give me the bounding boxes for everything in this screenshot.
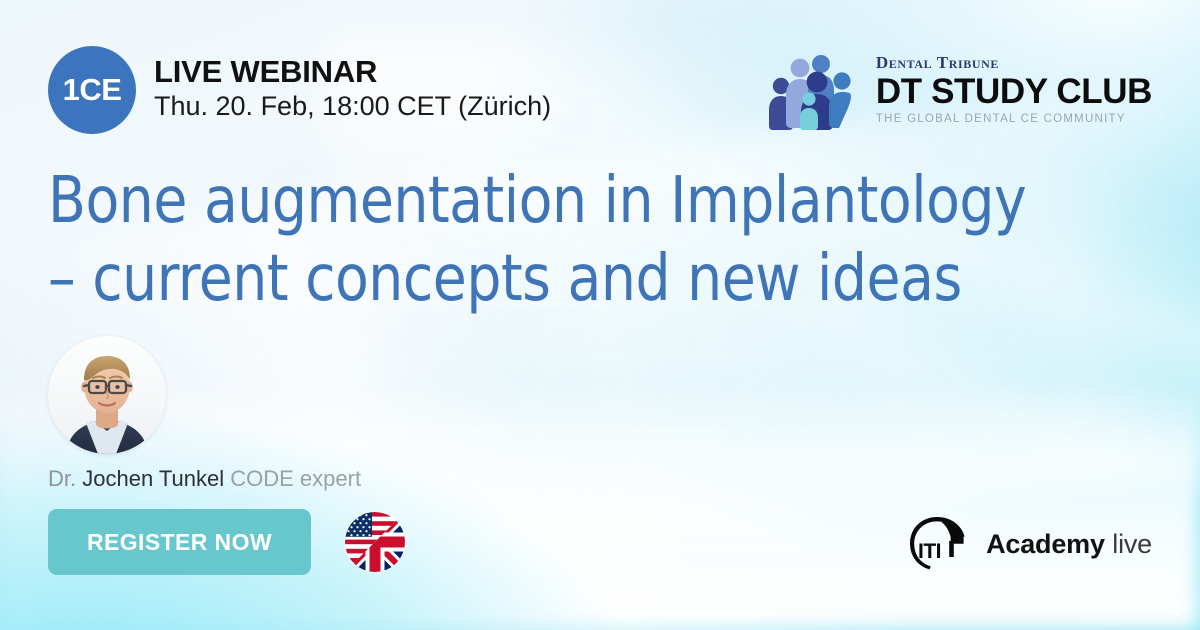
iti-academy-label: Academy xyxy=(986,529,1105,559)
webinar-promo-banner: 1CE LIVE WEBINAR Thu. 20. Feb, 18:00 CET… xyxy=(0,0,1200,630)
ce-credit-badge: 1CE xyxy=(48,46,136,134)
iti-ring-icon: ITI xyxy=(906,514,968,574)
svg-text:ITI: ITI xyxy=(918,540,941,563)
speaker-portrait-image xyxy=(48,336,166,454)
iti-wordmark: Academy live xyxy=(986,531,1152,558)
webinar-title-line-1: Bone augmentation in Implantology xyxy=(48,162,1114,240)
live-webinar-label: LIVE WEBINAR xyxy=(154,55,551,90)
speaker-name-line: Dr. Jochen Tunkel CODE expert xyxy=(48,468,361,490)
header-text-block: LIVE WEBINAR Thu. 20. Feb, 18:00 CET (Zü… xyxy=(154,55,551,126)
speaker-name: Jochen Tunkel xyxy=(82,466,224,491)
call-to-action-row: REGISTER NOW xyxy=(48,509,405,575)
banner-header: 1CE LIVE WEBINAR Thu. 20. Feb, 18:00 CET… xyxy=(48,46,551,134)
dental-tribune-label: Dental Tribune xyxy=(876,54,1152,71)
dt-logo-wordmark: Dental Tribune DT STUDY CLUB THE GLOBAL … xyxy=(876,54,1152,125)
register-now-button[interactable]: REGISTER NOW xyxy=(48,509,311,575)
webinar-datetime: Thu. 20. Feb, 18:00 CET (Zürich) xyxy=(154,90,551,123)
speaker-avatar xyxy=(48,336,166,454)
us-uk-flag-icon[interactable] xyxy=(345,512,405,572)
speaker-role: CODE expert xyxy=(230,466,361,491)
people-group-icon xyxy=(766,50,862,130)
background-streak xyxy=(264,353,1032,355)
speaker-block: Dr. Jochen Tunkel CODE expert xyxy=(48,336,361,490)
dt-study-club-logo[interactable]: Dental Tribune DT STUDY CLUB THE GLOBAL … xyxy=(766,50,1152,130)
dt-study-club-title: DT STUDY CLUB xyxy=(876,73,1152,111)
webinar-title-line-2: – current concepts and new ideas xyxy=(48,240,1114,318)
speaker-prefix: Dr. xyxy=(48,466,76,491)
webinar-title: Bone augmentation in Implantology – curr… xyxy=(48,162,1158,318)
dt-study-club-tagline: THE GLOBAL DENTAL CE COMMUNITY xyxy=(876,114,1152,126)
iti-live-label: live xyxy=(1112,529,1152,559)
iti-academy-live-logo[interactable]: ITI Academy live xyxy=(906,514,1152,574)
